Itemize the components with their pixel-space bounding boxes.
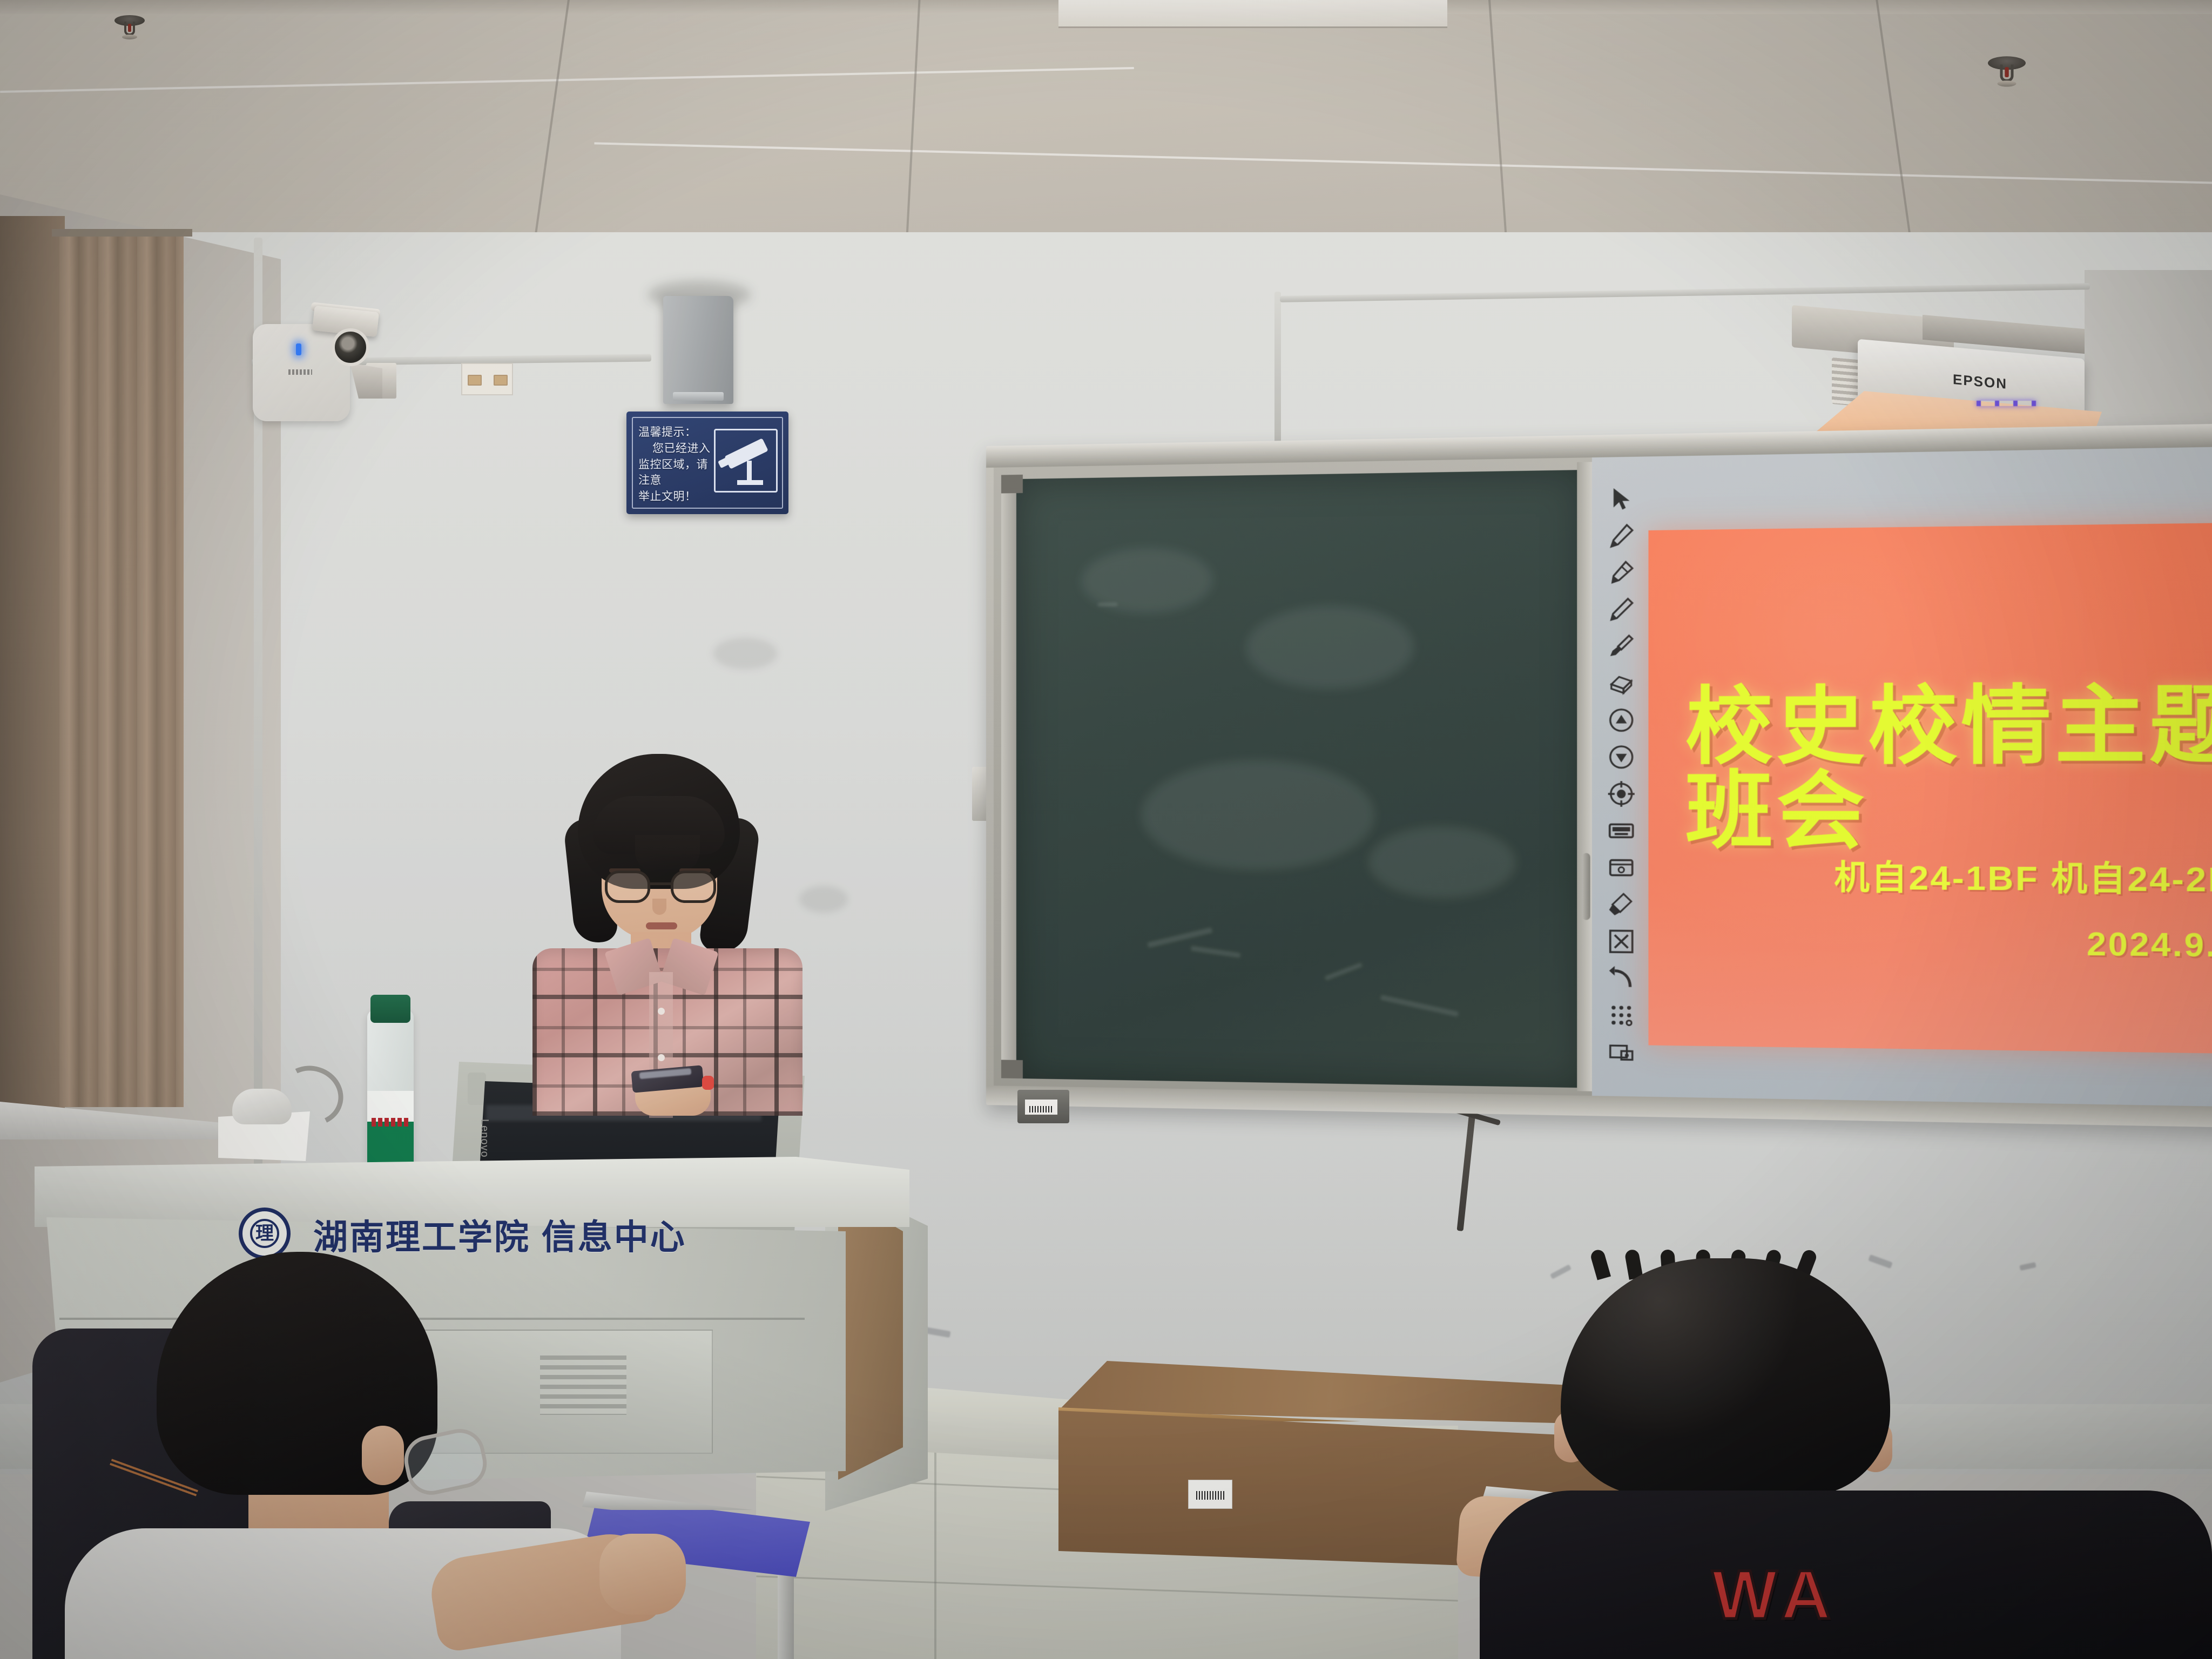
brush-icon[interactable]: [1608, 633, 1635, 659]
cctv-sign-line1: 温馨提示：: [638, 424, 719, 441]
black-shirt: [1480, 1491, 2212, 1659]
page-down-icon[interactable]: [1608, 744, 1635, 770]
chalkboard-slide-handle[interactable]: [1582, 853, 1590, 920]
logo-mark: 理: [255, 1224, 274, 1243]
slide-title: 校史校情主题班会: [1685, 682, 2212, 855]
cursor-arrow-icon[interactable]: [1608, 486, 1635, 512]
whiteboard-toolbar[interactable]: [1596, 480, 1646, 1091]
camera-lens-icon: [332, 328, 369, 366]
cctv-sign-line3: 监控区域，请注意: [638, 457, 719, 489]
ceiling-seam: [594, 142, 2212, 184]
monitor-hinge: [468, 1073, 486, 1105]
student-hand: [599, 1534, 686, 1615]
page-up-icon[interactable]: [1608, 707, 1635, 733]
cctv-sign-line2: 您已经进入: [638, 441, 719, 457]
ceiling-seam: [905, 0, 922, 248]
highlighter-icon[interactable]: [1608, 559, 1635, 585]
shirt-button: [658, 1054, 665, 1061]
projected-slide: 校史校情主题班会 机自24-1BF 机自24-2BF 2024.9.25: [1648, 522, 2212, 1054]
blackboard-whiteboard-assembly: 校史校情主题班会 机自24-1BF 机自24-2BF 2024.9.25: [986, 422, 2212, 1129]
fire-sprinkler-icon: [1988, 56, 2026, 87]
student-ear: [362, 1426, 404, 1485]
chalkboard-left-rail: [1001, 475, 1017, 1078]
presenter-fingernail: [702, 1076, 714, 1090]
presenter-mouth: [646, 922, 677, 929]
screen-icon[interactable]: [1608, 855, 1635, 881]
ceiling-seam: [1871, 0, 1912, 242]
pencil-icon[interactable]: [1608, 523, 1635, 549]
grid-icon[interactable]: [1608, 1002, 1635, 1028]
wall-smudge: [713, 637, 778, 670]
podium-wood-trim: [838, 1193, 903, 1480]
bottle-cap[interactable]: [370, 995, 410, 1023]
chalkboard-right-rail: [1577, 462, 1592, 1091]
marker-icon[interactable]: [1608, 597, 1635, 623]
curtain-rod: [52, 229, 192, 237]
eraser-icon[interactable]: [1608, 670, 1635, 696]
ceiling-seam: [1486, 0, 1508, 248]
slide-date: 2024.9.25: [2087, 925, 2212, 965]
interactive-whiteboard[interactable]: 校史校情主题班会 机自24-1BF 机自24-2BF 2024.9.25: [1592, 446, 2212, 1108]
projector-status-leds: [1977, 401, 2036, 406]
ceiling-seam: [531, 0, 572, 258]
wall-speaker-icon: [663, 296, 733, 404]
student-right-person: WA: [1458, 1258, 2212, 1659]
student-hair: [1561, 1258, 1890, 1496]
presenter-bangs: [635, 835, 700, 873]
fire-sprinkler-icon: [114, 15, 145, 40]
cctv-sign-line4: 举止文明！: [638, 489, 719, 505]
status-led: [296, 343, 301, 355]
asset-tag: [1188, 1480, 1232, 1509]
network-outlet-icon[interactable]: [461, 363, 513, 395]
wall-conduit: [1274, 292, 1281, 454]
sliding-chalkboard-panel[interactable]: [994, 457, 1592, 1096]
presenter-nose: [652, 899, 666, 915]
slide-class-names: 机自24-1BF 机自24-2BF: [1834, 851, 2212, 902]
student-left-person: [32, 1242, 670, 1659]
monitor-brand-label: Lenovo: [478, 1119, 490, 1158]
asset-tag: [1025, 1100, 1057, 1115]
ceiling: [0, 0, 2212, 254]
chalkboard-surface[interactable]: [1016, 470, 1584, 1088]
cctv-sign-text: 温馨提示： 您已经进入 监控区域，请注意 举止文明！: [638, 424, 719, 505]
cctv-camera-icon: [714, 429, 778, 493]
target-icon[interactable]: [1608, 781, 1635, 807]
curtain-shadow: [0, 216, 65, 1123]
close-icon[interactable]: [1608, 928, 1635, 954]
shirt-graphic-text: WA: [1712, 1561, 1838, 1630]
capture-icon[interactable]: [1608, 1039, 1635, 1065]
presenter-person: [508, 754, 810, 1110]
undo-icon[interactable]: [1608, 966, 1635, 992]
access-point-label: [288, 369, 312, 375]
ceiling-skylight: [1058, 0, 1447, 28]
cctv-warning-sign: 温馨提示： 您已经进入 监控区域，请注意 举止文明！: [626, 412, 788, 514]
window-curtain: [59, 232, 184, 1107]
board-accessory-bracket: [1017, 1090, 1069, 1123]
projector-brand-label: EPSON: [1953, 371, 2007, 393]
classroom-photo: 温馨提示： 您已经进入 监控区域，请注意 举止文明！ EPSON: [0, 0, 2212, 1659]
keyboard-icon[interactable]: [1608, 818, 1635, 844]
shirt-button: [658, 1008, 665, 1015]
ceiling-seam: [0, 67, 1134, 93]
water-bottle-label: [367, 1091, 414, 1172]
paint-bucket-icon[interactable]: [1608, 892, 1635, 918]
